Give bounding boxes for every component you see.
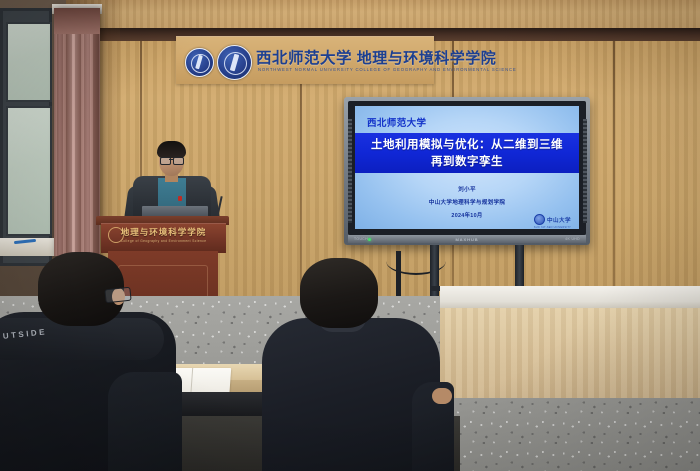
speaker-hair [157, 141, 186, 158]
sysu-logo-english: SUN YAT-SEN UNIVERSITY [534, 226, 571, 229]
curtain-header [54, 8, 100, 34]
slide-content: 西北师范大学 土地利用模拟与优化：从二维到三维 再到数字孪生 刘小平 中山大学地… [355, 106, 579, 229]
window-curtain [54, 8, 100, 256]
conference-table-front-skirt [440, 306, 700, 398]
display-chin-right-label: 4K UHD [565, 237, 580, 241]
podium-front-panel: 地理与环境科学学院 College of Geography and Envir… [101, 223, 226, 253]
window-frame [0, 8, 52, 266]
conference-table-front-top [440, 286, 700, 308]
slide-author: 刘小平 [355, 185, 579, 193]
slide-title-line1: 土地利用模拟与优化：从二维到三维 [355, 136, 579, 152]
presentation-screen: 西北师范大学 土地利用模拟与优化：从二维到三维 再到数字孪生 刘小平 中山大学地… [355, 106, 579, 229]
speaker-grille-left [348, 119, 352, 223]
audience-member-2-head [300, 258, 378, 328]
slide-title-band: 土地利用模拟与优化：从二维到三维 再到数字孪生 [355, 133, 579, 173]
sysu-logo-text: 中山大学 [547, 216, 571, 224]
banner-english: NORTHWEST NORMAL UNIVERSITY COLLEGE OF G… [258, 67, 517, 72]
audience-member-2-hand [432, 388, 452, 404]
audience-member-1-arm [108, 372, 182, 471]
power-led-icon [368, 238, 371, 241]
window-pane-lower [6, 106, 52, 236]
display-cable-drop [396, 251, 401, 301]
audience-member-1-glasses [104, 287, 131, 304]
college-seal-icon [217, 45, 252, 80]
slide-host-university: 西北师范大学 [367, 115, 426, 129]
wall-seam [613, 41, 615, 299]
display-brand-label: MAXHUB [455, 237, 478, 242]
sysu-logo: 中山大学 [534, 214, 571, 225]
podium-college-text: 地理与环境科学学院 [101, 226, 226, 238]
podium-college-english: College of Geography and Environment Sci… [101, 239, 226, 243]
smart-board-display[interactable]: 西北师范大学 土地利用模拟与优化：从二维到三维 再到数字孪生 刘小平 中山大学地… [344, 97, 590, 245]
display-bezel-inner: 西北师范大学 土地利用模拟与优化：从二维到三维 再到数字孪生 刘小平 中山大学地… [348, 101, 586, 235]
banner-text: 西北师范大学 地理与环境科学学院 [256, 46, 496, 68]
slide-affiliation: 中山大学地理科学与规划学院 [355, 198, 579, 206]
speaker-grille-right [583, 119, 587, 223]
banner-college: 地理与环境科学学院 [357, 50, 497, 67]
speaker-lapel-badge [178, 196, 182, 201]
display-chin-left-label: TOUCH [354, 237, 368, 241]
sysu-seal-icon [534, 214, 545, 225]
university-seal-icon [185, 48, 214, 77]
speaker-glasses-right [173, 157, 184, 165]
display-stand-leg-left [430, 245, 439, 300]
slide-title-line2: 再到数字孪生 [355, 153, 579, 169]
wall-banner: 西北师范大学 地理与环境科学学院 NORTHWEST NORMAL UNIVER… [176, 36, 434, 84]
speaker-glasses-bridge [169, 159, 173, 160]
lecture-hall-photo: 西北师范大学 地理与环境科学学院 NORTHWEST NORMAL UNIVER… [0, 0, 700, 471]
banner-university: 西北师范大学 [256, 50, 352, 67]
window-pane-upper [6, 22, 52, 102]
